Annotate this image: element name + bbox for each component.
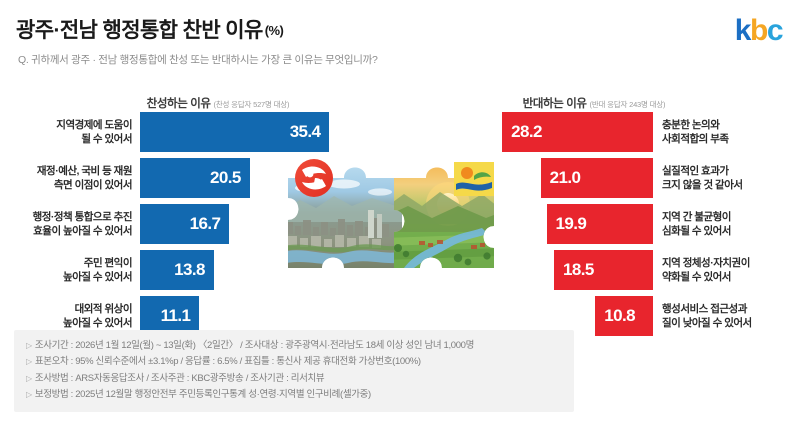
- pro-bar-label-line1: 주민 편익이: [2, 256, 132, 270]
- con-reasons-chart: 28.2 충분한 논의와 사회적합의 부족 21.0 실질적인 효과가 크지 않…: [400, 112, 800, 342]
- con-bar-row: 21.0 실질적인 효과가 크지 않을 것 같아서: [400, 158, 800, 198]
- con-bar-value: 10.8: [604, 306, 635, 326]
- con-bar-row: 18.5 지역 정체성·자치권이 약화될 수 있어서: [400, 250, 800, 290]
- note-line: ▷조사기간 : 2026년 1월 12일(월) ~ 13일(화) 〈2일간〉 /…: [26, 338, 562, 354]
- pro-bar-row: 재정·예산, 국비 등 재원 측면 이점이 있어서 20.5: [0, 158, 400, 198]
- con-bar-row: 28.2 충분한 논의와 사회적합의 부족: [400, 112, 800, 152]
- con-bar: 18.5: [554, 250, 653, 290]
- infographic-page: 광주·전남 행정통합 찬반 이유(%) Q. 귀하께서 광주 · 전남 행정통합…: [0, 0, 800, 426]
- note-line: ▷조사방법 : ARS자동응답조사 / 조사주관 : KBC광주방송 / 조사기…: [26, 371, 562, 387]
- page-title-text: 광주·전남 행정통합 찬반 이유: [16, 19, 263, 42]
- pro-bar: 16.7: [140, 204, 229, 244]
- con-bar-label: 충분한 논의와 사회적합의 부족: [662, 118, 800, 146]
- triangle-bullet-icon: ▷: [26, 341, 32, 350]
- pro-bar-value: 20.5: [210, 168, 241, 188]
- pro-bar-label: 주민 편익이 높아질 수 있어서: [2, 256, 132, 284]
- pro-bar-label: 재정·예산, 국비 등 재원 측면 이점이 있어서: [2, 164, 132, 192]
- pro-bar-label-line2: 될 수 있어서: [2, 132, 132, 146]
- note-text: 조사기간 : 2026년 1월 12일(월) ~ 13일(화) 〈2일간〉 / …: [35, 340, 474, 351]
- con-bar-label: 지역 정체성·자치권이 약화될 수 있어서: [662, 256, 800, 284]
- con-chart-sample-note: (반대 응답자 243명 대상): [590, 100, 666, 109]
- pro-bar-label: 대외적 위상이 높아질 수 있어서: [2, 302, 132, 330]
- pro-bar-row: 지역경제에 도움이 될 수 있어서 35.4: [0, 112, 400, 152]
- pro-bar-label-line2: 높아질 수 있어서: [2, 270, 132, 284]
- pro-bar-label-line1: 행정·정책 통합으로 추진: [2, 210, 132, 224]
- pro-bar-label-line2: 효율이 높아질 수 있어서: [2, 224, 132, 238]
- con-bar-label: 실질적인 효과가 크지 않을 것 같아서: [662, 164, 800, 192]
- con-bar: 28.2: [502, 112, 653, 152]
- header: 광주·전남 행정통합 찬반 이유(%) Q. 귀하께서 광주 · 전남 행정통합…: [0, 0, 800, 78]
- page-title: 광주·전남 행정통합 찬반 이유(%): [16, 14, 283, 44]
- pro-chart-header: 찬성하는 이유(찬성 응답자 527명 대상): [147, 95, 290, 111]
- con-bar-label-line1: 지역 간 불균형이: [662, 210, 800, 224]
- con-bar-label-line1: 실질적인 효과가: [662, 164, 800, 178]
- logo-letter-c: c: [767, 14, 782, 47]
- con-bar: 21.0: [541, 158, 653, 198]
- pro-bar-label-line1: 재정·예산, 국비 등 재원: [2, 164, 132, 178]
- pro-chart-sample-note: (찬성 응답자 527명 대상): [214, 100, 290, 109]
- pro-bar-label-line2: 높아질 수 있어서: [2, 316, 132, 330]
- con-bar-value: 18.5: [563, 260, 594, 280]
- pro-bar: 20.5: [140, 158, 250, 198]
- con-bar-label-line2: 질이 낮아질 수 있어서: [662, 316, 800, 330]
- con-bar-label-line1: 행성서비스 접근성과: [662, 302, 800, 316]
- note-text: 조사방법 : ARS자동응답조사 / 조사주관 : KBC광주방송 / 조사기관…: [35, 373, 324, 384]
- con-bar-label-line1: 지역 정체성·자치권이: [662, 256, 800, 270]
- con-bar-label-line2: 심화될 수 있어서: [662, 224, 800, 238]
- note-text: 표본오차 : 95% 신뢰수준에서 ±3.1%p / 응답률 : 6.5% / …: [35, 356, 421, 367]
- con-bar-value: 21.0: [550, 168, 581, 188]
- pro-bar-label: 행정·정책 통합으로 추진 효율이 높아질 수 있어서: [2, 210, 132, 238]
- con-bar-label-line2: 크지 않을 것 같아서: [662, 178, 800, 192]
- triangle-bullet-icon: ▷: [26, 357, 32, 366]
- con-bar: 19.9: [547, 204, 653, 244]
- triangle-bullet-icon: ▷: [26, 374, 32, 383]
- con-bar-label-line1: 충분한 논의와: [662, 118, 800, 132]
- con-bar-label-line2: 약화될 수 있어서: [662, 270, 800, 284]
- page-title-unit: (%): [265, 23, 283, 38]
- pro-chart-header-label: 찬성하는 이유: [147, 98, 211, 110]
- survey-question: Q. 귀하께서 광주 · 전남 행정통합에 찬성 또는 반대하시는 가장 큰 이…: [18, 52, 378, 67]
- logo-letter-k: k: [735, 14, 750, 47]
- note-line: ▷표본오차 : 95% 신뢰수준에서 ±3.1%p / 응답률 : 6.5% /…: [26, 354, 562, 370]
- con-bar-value: 28.2: [511, 122, 542, 142]
- pro-bar-label-line1: 대외적 위상이: [2, 302, 132, 316]
- pro-bar-value: 11.1: [161, 306, 191, 326]
- pro-bar-row: 행정·정책 통합으로 추진 효율이 높아질 수 있어서 16.7: [0, 204, 400, 244]
- con-bar: 10.8: [595, 296, 653, 336]
- pro-bar-value: 13.8: [174, 260, 205, 280]
- pro-bar-label-line2: 측면 이점이 있어서: [2, 178, 132, 192]
- pro-bar-value: 35.4: [290, 122, 321, 142]
- con-bar-label-line2: 사회적합의 부족: [662, 132, 800, 146]
- triangle-bullet-icon: ▷: [26, 390, 32, 399]
- pro-bar-label-line1: 지역경제에 도움이: [2, 118, 132, 132]
- pro-bar-value: 16.7: [190, 214, 221, 234]
- pro-bar-row: 주민 편익이 높아질 수 있어서 13.8: [0, 250, 400, 290]
- note-line: ▷보정방법 : 2025년 12월말 행정안전부 주민등록인구통계 성·연령·지…: [26, 387, 562, 403]
- con-chart-header: 반대하는 이유(반대 응답자 243명 대상): [523, 95, 666, 111]
- kbc-logo: kbc: [735, 16, 782, 46]
- con-bar-label: 지역 간 불균형이 심화될 수 있어서: [662, 210, 800, 238]
- pro-bar: 35.4: [140, 112, 329, 152]
- con-chart-header-label: 반대하는 이유: [523, 98, 587, 110]
- pro-bar-label: 지역경제에 도움이 될 수 있어서: [2, 118, 132, 146]
- survey-methodology-notes: ▷조사기간 : 2026년 1월 12일(월) ~ 13일(화) 〈2일간〉 /…: [14, 330, 574, 412]
- note-text: 보정방법 : 2025년 12월말 행정안전부 주민등록인구통계 성·연령·지역…: [35, 389, 371, 400]
- con-bar-row: 19.9 지역 간 불균형이 심화될 수 있어서: [400, 204, 800, 244]
- pro-reasons-chart: 지역경제에 도움이 될 수 있어서 35.4 재정·예산, 국비 등 재원 측면…: [0, 112, 400, 342]
- logo-letter-b: b: [750, 14, 767, 47]
- pro-bar: 13.8: [140, 250, 214, 290]
- con-bar-label: 행성서비스 접근성과 질이 낮아질 수 있어서: [662, 302, 800, 330]
- con-bar-value: 19.9: [556, 214, 587, 234]
